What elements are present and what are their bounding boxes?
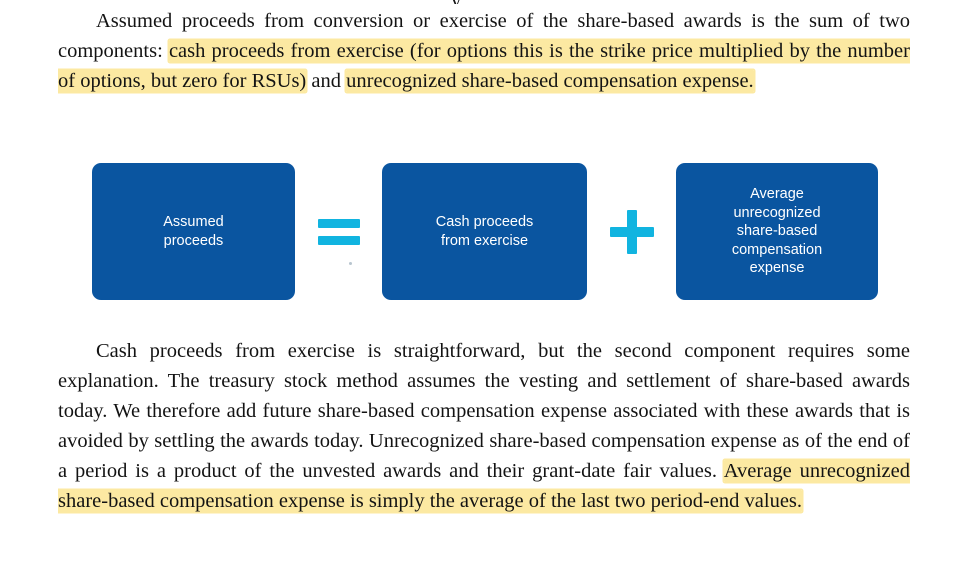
para-top-seg-2: and bbox=[306, 70, 346, 92]
diagram-box-assumed-proceeds-label: Assumed proceeds bbox=[163, 213, 223, 250]
clipped-previous-line-text: y bbox=[0, 0, 965, 4]
diagram-box-cash-proceeds-label: Cash proceeds from exercise bbox=[436, 213, 534, 250]
diagram-operator-plus bbox=[587, 163, 676, 300]
diagram-operator-equals bbox=[295, 163, 382, 300]
paragraph-cash-proceeds-explanation: Cash proceeds from exercise is straightf… bbox=[58, 336, 910, 516]
plus-icon bbox=[610, 210, 654, 254]
para-top-seg-3-highlighted: unrecognized share-based compensation ex… bbox=[346, 70, 754, 92]
diagram-box-average-unrecognized-expense-label: Average unrecognized share-based compens… bbox=[732, 185, 822, 278]
paragraph-assumed-proceeds: Assumed proceeds from conversion or exer… bbox=[58, 6, 910, 96]
diagram-box-assumed-proceeds: Assumed proceeds bbox=[92, 163, 295, 300]
diagram-box-cash-proceeds: Cash proceeds from exercise bbox=[382, 163, 587, 300]
clipped-previous-line: y bbox=[0, 0, 965, 4]
diagram-box-average-unrecognized-expense: Average unrecognized share-based compens… bbox=[676, 163, 878, 300]
assumed-proceeds-formula-diagram: Assumed proceeds Cash proceeds from exer… bbox=[92, 163, 878, 300]
equals-icon bbox=[318, 219, 360, 245]
stray-dot-artifact bbox=[349, 262, 352, 265]
